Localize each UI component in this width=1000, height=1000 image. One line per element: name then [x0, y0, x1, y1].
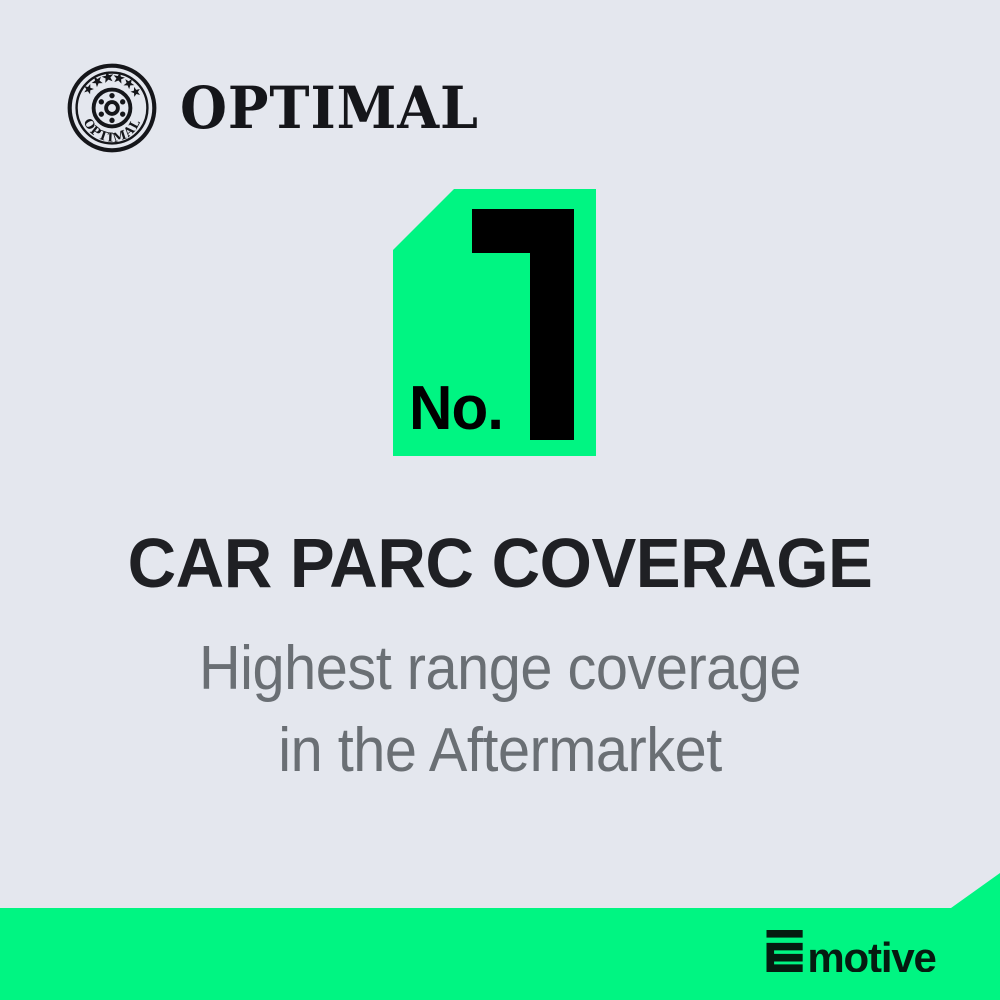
optimal-wordmark: OPTIMAL — [180, 79, 479, 137]
optimal-brand-lockup: OPTIMAL OPTIMAL OPTIMAL — [66, 62, 501, 154]
page-headline: CAR PARC COVERAGE — [20, 528, 980, 598]
optimal-emblem-label: OPTIMAL — [66, 154, 67, 155]
page-subheadline: Highest range coverage in the Aftermarke… — [35, 628, 965, 793]
optimal-emblem-icon: OPTIMAL OPTIMAL — [66, 62, 158, 154]
number-one-badge: No. 1 — [393, 189, 596, 456]
footer-bar: motive Emotive — [0, 870, 1000, 1000]
subheadline-line-2: in the Aftermarket — [35, 710, 965, 792]
emotive-logo: motive Emotive — [763, 930, 956, 972]
poster-canvas: OPTIMAL OPTIMAL OPTIMAL No. 1 CAR PARC C… — [0, 0, 1000, 1000]
badge-rank-numeral: 1 — [468, 205, 578, 445]
subheadline-line-1: Highest range coverage — [35, 628, 965, 710]
svg-text:motive: motive — [807, 934, 935, 972]
